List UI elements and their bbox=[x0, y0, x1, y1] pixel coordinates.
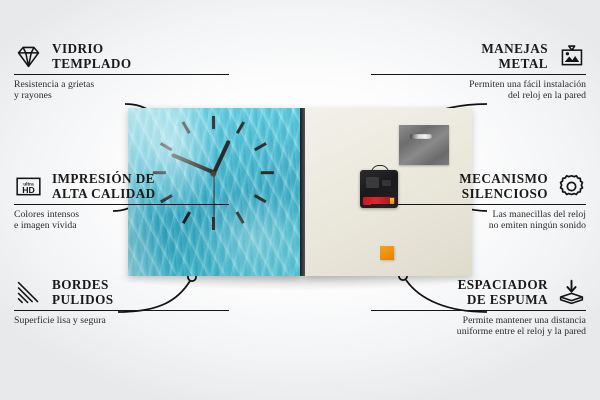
feature-header: MANEJAS METAL bbox=[371, 42, 586, 74]
foam-spacer-pad bbox=[380, 246, 394, 260]
feature-title: IMPRESIÓN DE ALTA CALIDAD bbox=[52, 172, 156, 200]
feature-title: BORDES PULIDOS bbox=[52, 278, 114, 306]
gear-icon bbox=[557, 172, 586, 201]
feature-polished-edges: BORDES PULIDOS Superficie lisa y segura bbox=[14, 278, 229, 326]
polished-edges-icon bbox=[14, 278, 43, 307]
feature-header: MECANISMO SILENCIOSO bbox=[371, 172, 586, 204]
hour-mark bbox=[261, 171, 274, 174]
feature-title: MECANISMO SILENCIOSO bbox=[459, 172, 548, 200]
hour-mark bbox=[182, 121, 191, 134]
feature-header: ultra HD IMPRESIÓN DE ALTA CALIDAD bbox=[14, 172, 229, 204]
feature-subtitle: Superficie lisa y segura bbox=[14, 311, 229, 326]
feature-subtitle: Las manecillas del reloj no emiten ningú… bbox=[371, 205, 586, 231]
feature-title: MANEJAS METAL bbox=[481, 42, 548, 70]
feature-metal-hooks: MANEJAS METAL Permiten una fácil instala… bbox=[371, 42, 586, 102]
feature-subtitle: Permiten una fácil instalación del reloj… bbox=[371, 75, 586, 101]
feature-foam-spacer: ESPACIADOR DE ESPUMA Permite mantener un… bbox=[371, 278, 586, 338]
hour-mark bbox=[254, 142, 267, 151]
diamond-icon bbox=[14, 42, 43, 71]
ultra-hd-big-label: HD bbox=[22, 185, 35, 195]
hour-mark bbox=[212, 116, 215, 129]
hour-hand bbox=[212, 139, 231, 173]
feature-title: VIDRIO TEMPLADO bbox=[52, 42, 132, 70]
feature-subtitle: Resistencia a grietas y rayones bbox=[14, 75, 229, 101]
hour-mark bbox=[236, 121, 245, 134]
picture-hanger-icon bbox=[557, 42, 586, 71]
feature-title: ESPACIADOR DE ESPUMA bbox=[458, 278, 548, 306]
hour-mark bbox=[254, 194, 267, 203]
feature-header: ESPACIADOR DE ESPUMA bbox=[371, 278, 586, 310]
feature-header: BORDES PULIDOS bbox=[14, 278, 229, 310]
feature-subtitle: Permite mantener una distancia uniforme … bbox=[371, 311, 586, 337]
ultra-hd-icon: ultra HD bbox=[14, 172, 43, 201]
hanger-slot bbox=[410, 134, 432, 139]
feature-header: VIDRIO TEMPLADO bbox=[14, 42, 229, 74]
hour-mark bbox=[236, 211, 245, 224]
feature-hd-print: ultra HD IMPRESIÓN DE ALTA CALIDAD Color… bbox=[14, 172, 229, 232]
infographic-canvas: VIDRIO TEMPLADO Resistencia a grietas y … bbox=[0, 0, 600, 400]
metal-hanger-plate bbox=[399, 125, 449, 165]
hour-mark bbox=[160, 142, 173, 151]
feature-subtitle: Colores intensos e imagen vívida bbox=[14, 205, 229, 231]
feature-silent-mechanism: MECANISMO SILENCIOSO Las manecillas del … bbox=[371, 172, 586, 232]
foam-spacer-icon bbox=[557, 278, 586, 307]
feature-tempered-glass: VIDRIO TEMPLADO Resistencia a grietas y … bbox=[14, 42, 229, 102]
